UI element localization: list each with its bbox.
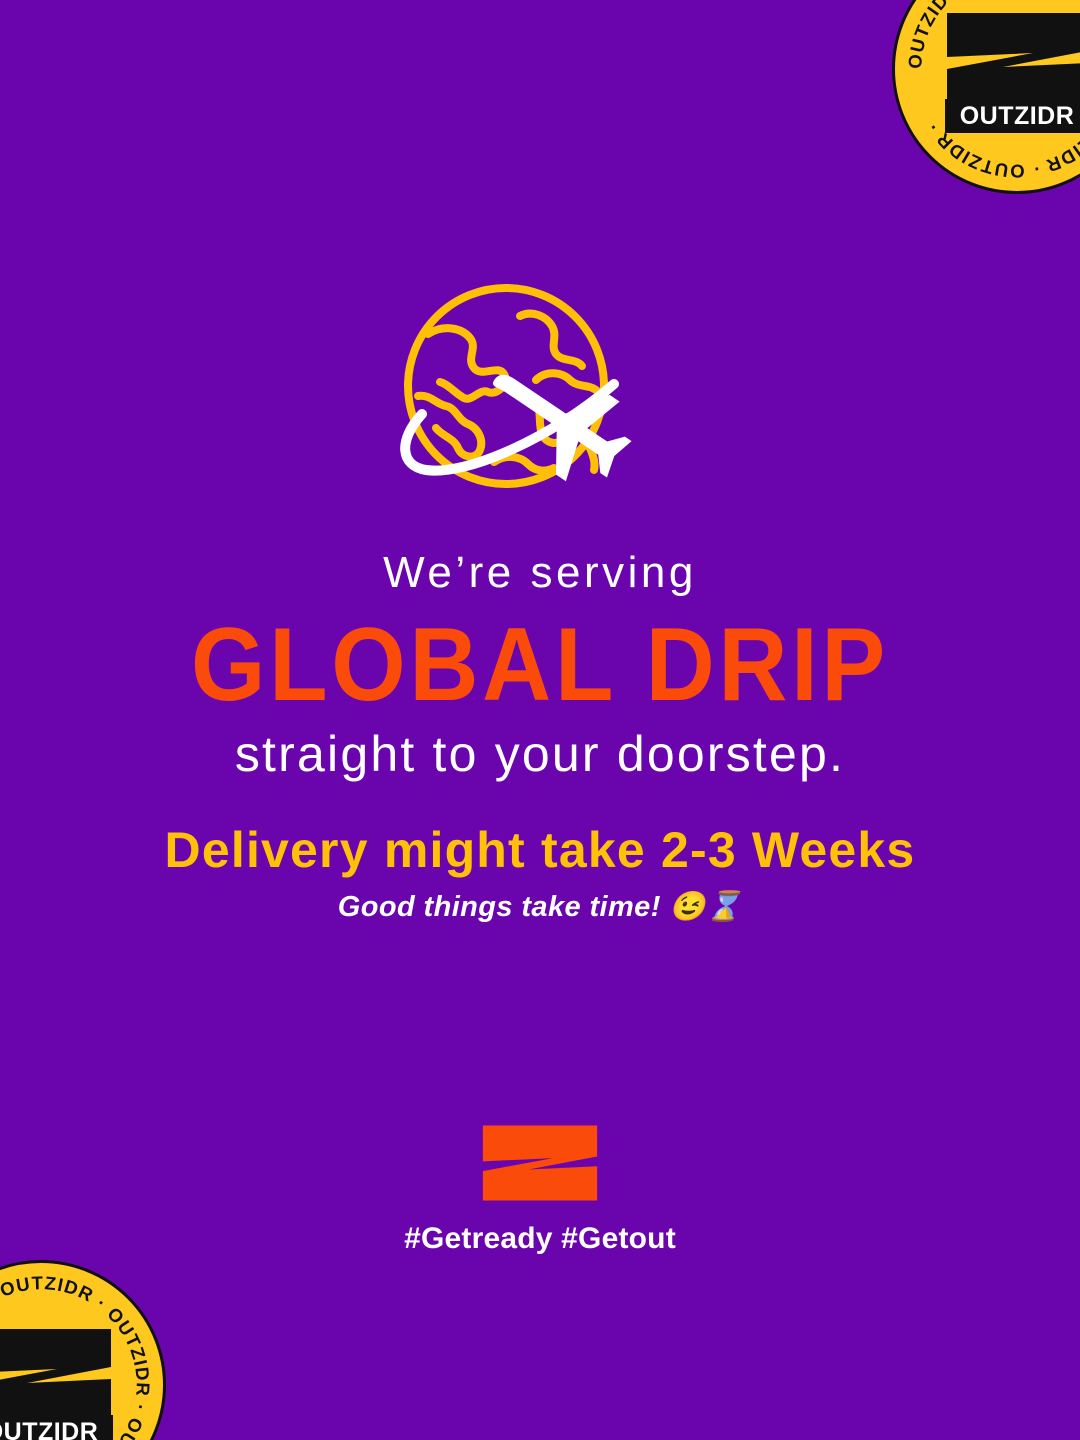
sticker-wordmark: OUTZIDR [0,1420,98,1440]
delivery-note-text: Good things take time! 😉⌛ [0,890,1080,925]
sticker-core: OUTZIDR [941,0,1080,145]
sticker-wordmark: OUTZIDR [960,104,1075,129]
headline-subline: straight to your doorstep. [0,727,1080,782]
hero-icon-wrap [0,272,1080,504]
sticker-wordmark-plate: OUTZIDR [945,99,1080,133]
headline-primary: GLOBAL DRIP [43,613,1037,717]
z-logo-icon [941,11,1080,107]
brand-z-logo-icon [478,1118,602,1208]
sticker-core: OUTZIDR [0,1309,117,1440]
footer-hashtags: #Getready #Getout [0,1222,1080,1256]
footer-brand-block: #Getready #Getout [0,1118,1080,1256]
delivery-notice-block: Delivery might take 2-3 Weeks Good thing… [0,822,1080,925]
headline-eyebrow: We’re serving [0,548,1080,597]
brand-sticker-bottom-left: OUTZIDR · OUTZIDR · OUTZIDR · OUTZIDR · … [0,1260,166,1440]
delivery-estimate-text: Delivery might take 2-3 Weeks [0,822,1080,878]
brand-sticker-top-right: OUTZIDR · OUTZIDR · OUTZIDR · OUTZIDR · … [892,0,1080,194]
poster-canvas: OUTZIDR · OUTZIDR · OUTZIDR · OUTZIDR · … [0,0,1080,1440]
airplane-icon [470,337,646,499]
z-logo-icon [0,1327,117,1423]
headline-block: We’re serving GLOBAL DRIP straight to yo… [0,548,1080,782]
sticker-wordmark-plate: OUTZIDR [0,1415,113,1440]
globe-airplane-icon [370,272,710,504]
